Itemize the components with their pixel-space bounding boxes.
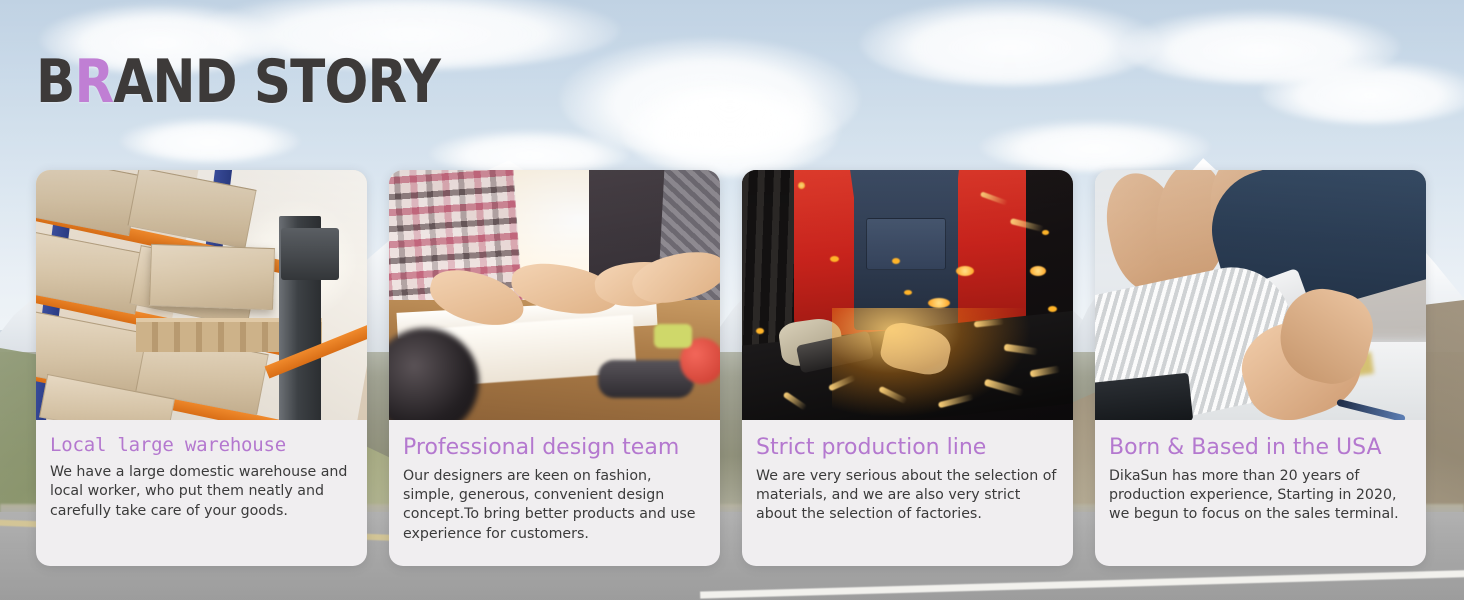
spark bbox=[1042, 230, 1049, 235]
card-description: We are very serious about the selection … bbox=[756, 467, 1059, 525]
page-title-part-2: AND STORY bbox=[113, 47, 440, 117]
card-description: Our designers are keen on fashion, simpl… bbox=[403, 467, 706, 545]
card-description: DikaSun has more than 20 years of produc… bbox=[1109, 467, 1412, 525]
spark bbox=[1030, 266, 1046, 276]
spark bbox=[798, 182, 805, 189]
card-body: Local large warehouse We have a large do… bbox=[36, 420, 367, 521]
card-body: Strict production line We are very serio… bbox=[742, 420, 1073, 525]
cloud bbox=[860, 0, 1160, 86]
cardboard-box-on-forklift bbox=[149, 244, 275, 310]
card-title: Local large warehouse bbox=[50, 434, 353, 458]
card-body: Professional design team Our designers a… bbox=[389, 420, 720, 544]
page-title-part-1: B bbox=[36, 47, 74, 117]
feature-card-grid: Local large warehouse We have a large do… bbox=[36, 170, 1428, 566]
card-description: We have a large domestic warehouse and l… bbox=[50, 463, 353, 521]
spark bbox=[956, 266, 974, 276]
warehouse-racking-forklift-photo bbox=[36, 170, 367, 420]
feature-card[interactable]: Strict production line We are very serio… bbox=[742, 170, 1073, 566]
card-title: Strict production line bbox=[756, 434, 1059, 462]
spark bbox=[756, 328, 764, 334]
page-title-highlight-letter: R bbox=[74, 47, 113, 117]
card-body: Born & Based in the USA DikaSun has more… bbox=[1095, 420, 1426, 525]
feature-card[interactable]: Born & Based in the USA DikaSun has more… bbox=[1095, 170, 1426, 566]
spark bbox=[1048, 306, 1057, 312]
spark bbox=[928, 298, 950, 308]
welder-grinding-sparks-photo bbox=[742, 170, 1073, 420]
spark bbox=[892, 258, 900, 264]
overall-pocket bbox=[866, 218, 946, 270]
spark bbox=[904, 290, 912, 295]
spark bbox=[830, 256, 839, 262]
forklift-carriage bbox=[281, 228, 339, 280]
feature-card[interactable]: Local large warehouse We have a large do… bbox=[36, 170, 367, 566]
design-team-blueprints-photo bbox=[389, 170, 720, 420]
business-handshake-applause-photo bbox=[1095, 170, 1426, 420]
card-title: Professional design team bbox=[403, 434, 706, 462]
green-object bbox=[654, 324, 692, 348]
feature-card[interactable]: Professional design team Our designers a… bbox=[389, 170, 720, 566]
page-title: BRAND STORY bbox=[36, 52, 440, 112]
card-title: Born & Based in the USA bbox=[1109, 434, 1412, 462]
